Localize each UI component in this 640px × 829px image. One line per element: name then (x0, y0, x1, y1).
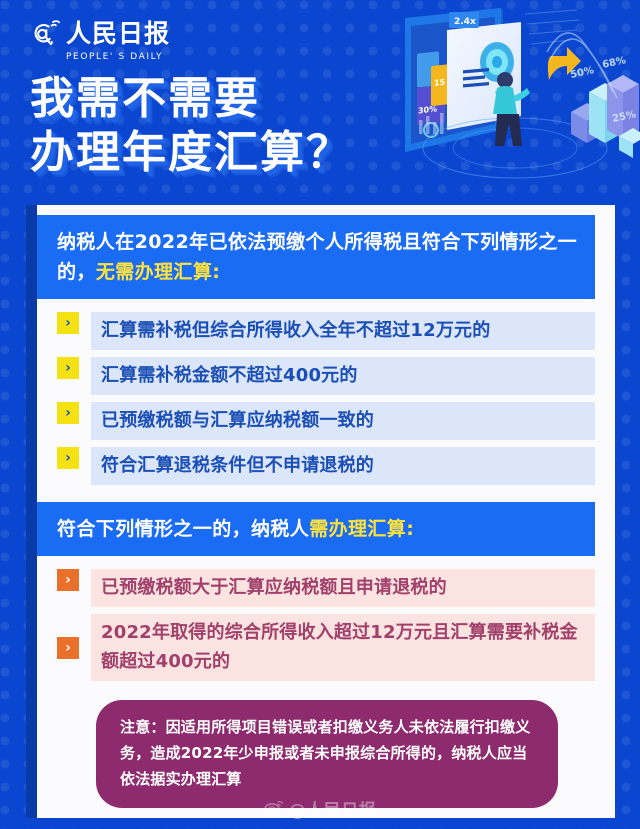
list-item-label: 已预缴税额大于汇算应纳税额且申请退税的 (101, 577, 447, 598)
isometric-data-analysis-illustration: 30% 15 2.4x (375, 0, 640, 200)
card-left-accent-stripe (26, 205, 37, 818)
section-header-must-settlement: 符合下列情形之一的，纳税人需办理汇算: (37, 502, 595, 556)
logo-english-name: PEOPLE' S DAILY (66, 52, 176, 62)
list-item-label: 2022年取得的综合所得收入超过12万元且汇算需要补税金额超过400元的 (101, 622, 578, 672)
list-item[interactable]: › 已预缴税额大于汇算应纳税额且申请退税的 (57, 569, 595, 607)
list-item[interactable]: › 符合汇算退税条件但不申请退税的 (57, 447, 595, 485)
list-item[interactable]: › 汇算需补税金额不超过400元的 (57, 357, 595, 395)
note-callout: 注意：因适用所得项目错误或者扣缴义务人未依法履行扣缴义务，造成2022年少申报或… (96, 700, 558, 808)
list-item[interactable]: › 2022年取得的综合所得收入超过12万元且汇算需要补税金额超过400元的 (57, 614, 595, 681)
weibo-watermark: @人民日报 (0, 796, 640, 821)
list-item[interactable]: › 汇算需补税但综合所得收入全年不超过12万元的 (57, 312, 595, 350)
chevron-right-icon: › (57, 637, 79, 659)
weibo-icon (264, 799, 284, 819)
chevron-right-icon: › (57, 402, 79, 424)
hero-section: 人民日报 PEOPLE' S DAILY 我需不需要 办理年度汇算？ (0, 0, 640, 212)
svg-text:68%: 68% (601, 55, 627, 71)
chevron-right-icon: › (57, 447, 79, 469)
infographic-poster: 人民日报 PEOPLE' S DAILY 我需不需要 办理年度汇算？ (0, 0, 640, 829)
list-item-label: 汇算需补税但综合所得收入全年不超过12万元的 (101, 320, 490, 341)
section-header-text: 符合下列情形之一的，纳税人 (57, 518, 309, 540)
title-line-2: 办理年度汇算？ (30, 126, 430, 180)
title-line-1: 我需不需要 (30, 72, 430, 126)
watermark-text: @人民日报 (289, 796, 377, 821)
logo-chinese-name: 人民日报 (66, 20, 170, 48)
list-item-label: 汇算需补税金额不超过400元的 (101, 365, 358, 386)
list-item-label: 符合汇算退税条件但不申请退税的 (101, 455, 374, 476)
section-header-emphasis: 无需办理汇算: (96, 261, 220, 283)
at-sign-icon (26, 17, 60, 51)
note-text: 注意：因适用所得项目错误或者扣缴义务人未依法履行扣缴义务，造成2022年少申报或… (120, 714, 534, 792)
svg-text:2.4x: 2.4x (454, 17, 476, 27)
chevron-right-icon: › (57, 312, 79, 334)
chevron-right-icon: › (57, 357, 79, 379)
chevron-right-icon: › (57, 569, 79, 591)
section-header-no-settlement: 纳税人在2022年已依法预缴个人所得税且符合下列情形之一的，无需办理汇算: (37, 215, 595, 299)
list-item[interactable]: › 已预缴税额与汇算应纳税额一致的 (57, 402, 595, 440)
section-header-emphasis: 需办理汇算: (309, 518, 414, 540)
list-item-label: 已预缴税额与汇算应纳税额一致的 (101, 410, 374, 431)
poster-title: 我需不需要 办理年度汇算？ (30, 72, 430, 180)
svg-text:15: 15 (434, 78, 446, 88)
peoples-daily-logo: 人民日报 PEOPLE' S DAILY (26, 17, 176, 63)
